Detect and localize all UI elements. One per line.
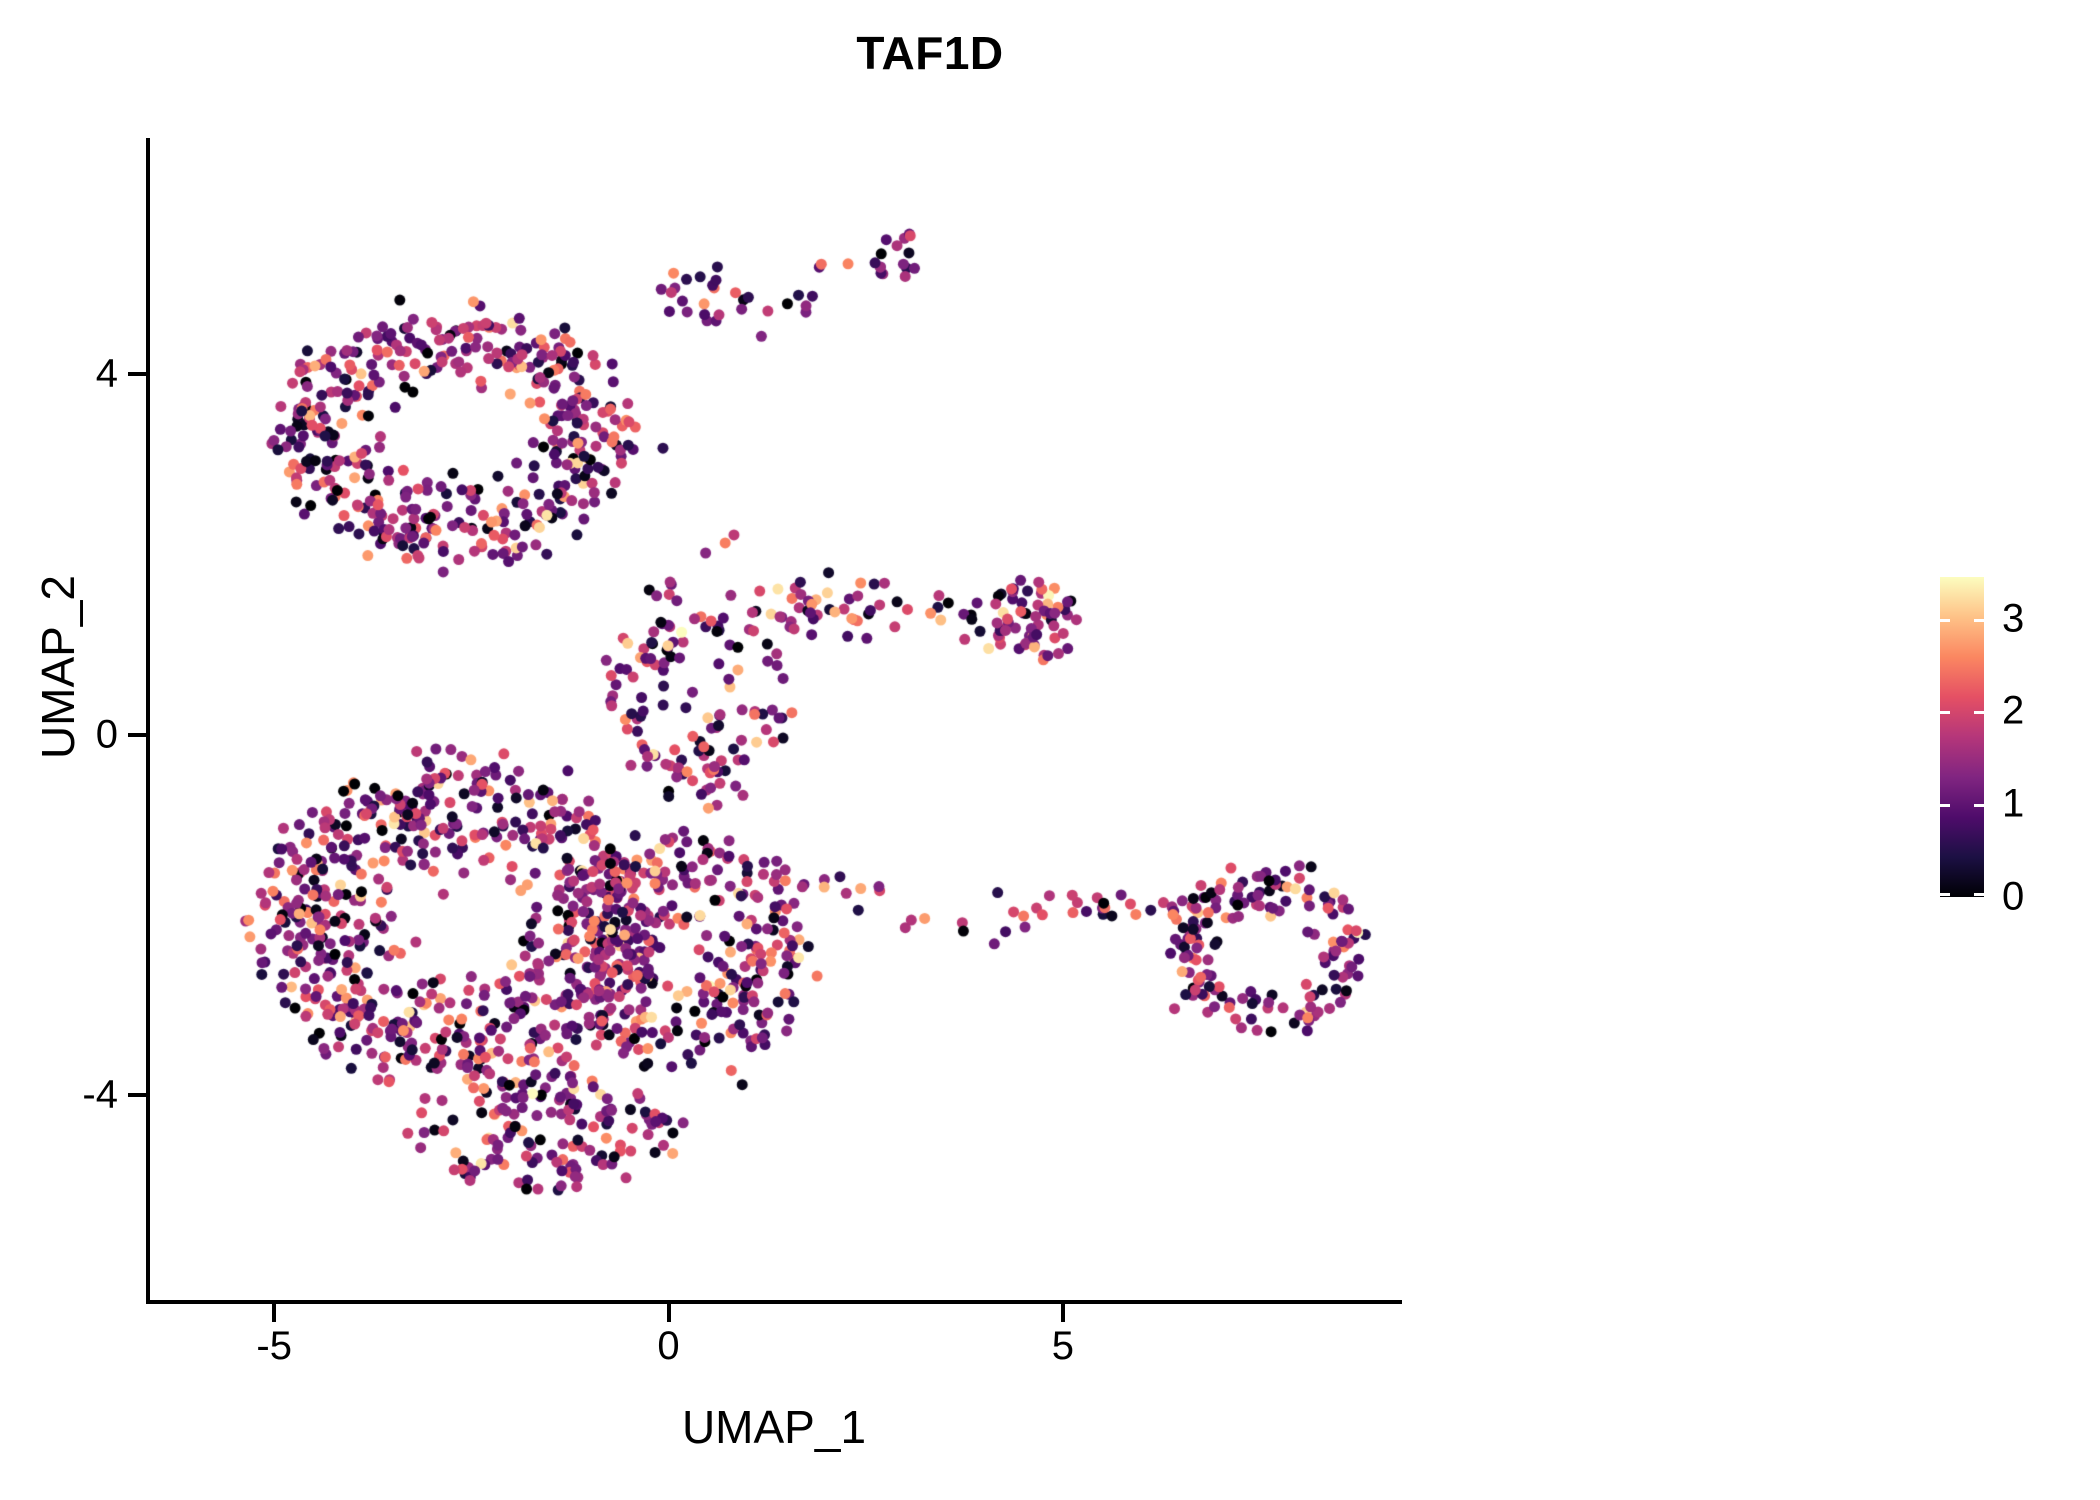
colorbar-tick-mark — [1974, 619, 1984, 622]
colorbar-tick-mark — [1940, 804, 1950, 807]
x-tick-label: 0 — [609, 1324, 729, 1369]
x-axis-line — [146, 1300, 1402, 1304]
y-axis-label: UMAP_2 — [31, 287, 85, 1047]
colorbar-gradient — [1940, 577, 1984, 897]
x-axis-label: UMAP_1 — [146, 1400, 1402, 1454]
scatter-plot-canvas — [0, 0, 2100, 1500]
y-tick-label: -4 — [0, 1072, 118, 1117]
colorbar-tick-label: 1 — [2002, 782, 2024, 827]
x-tick-mark — [1061, 1304, 1065, 1322]
chart-root: TAF1D -404 -505 UMAP_2 UMAP_1 0123 — [0, 0, 2100, 1500]
colorbar-tick-mark — [1940, 711, 1950, 714]
x-tick-mark — [667, 1304, 671, 1322]
colorbar-tick-mark — [1974, 893, 1984, 896]
y-axis-line — [146, 138, 150, 1304]
colorbar-tick-mark — [1940, 893, 1950, 896]
colorbar-tick-label: 2 — [2002, 689, 2024, 734]
x-tick-mark — [272, 1304, 276, 1322]
y-tick-mark — [128, 372, 146, 376]
colorbar-tick-label: 3 — [2002, 596, 2024, 641]
x-tick-label: -5 — [214, 1324, 334, 1369]
colorbar-tick-label: 0 — [2002, 875, 2024, 920]
colorbar-tick-mark — [1940, 619, 1950, 622]
colorbar-tick-mark — [1974, 711, 1984, 714]
y-tick-mark — [128, 733, 146, 737]
colorbar-legend: 0123 — [1940, 577, 1984, 897]
colorbar-tick-mark — [1974, 804, 1984, 807]
y-tick-mark — [128, 1093, 146, 1097]
x-tick-label: 5 — [1003, 1324, 1123, 1369]
